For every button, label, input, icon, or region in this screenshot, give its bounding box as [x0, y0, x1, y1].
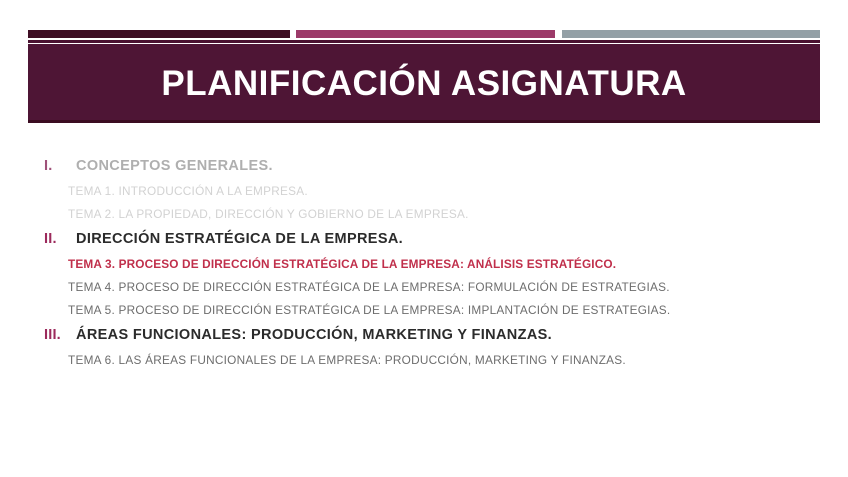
outline-topic: TEMA 1. INTRODUCCIÓN A LA EMPRESA.: [0, 184, 848, 198]
title-banner: PLANIFICACIÓN ASIGNATURA: [28, 44, 820, 122]
outline-topic-highlighted: TEMA 3. PROCESO DE DIRECCIÓN ESTRATÉGICA…: [0, 257, 848, 271]
outline-topic: TEMA 4. PROCESO DE DIRECCIÓN ESTRATÉGICA…: [0, 280, 848, 294]
outline-topic: TEMA 2. LA PROPIEDAD, DIRECCIÓN Y GOBIER…: [0, 207, 848, 221]
decorative-rule-thin: [28, 40, 820, 43]
slide-canvas: PLANIFICACIÓN ASIGNATURA I. CONCEPTOS GE…: [0, 0, 848, 477]
section-heading: ÁREAS FUNCIONALES: PRODUCCIÓN, MARKETING…: [76, 327, 552, 343]
outline-section: III. ÁREAS FUNCIONALES: PRODUCCIÓN, MARK…: [0, 327, 848, 343]
outline-topic: TEMA 5. PROCESO DE DIRECCIÓN ESTRATÉGICA…: [0, 303, 848, 317]
decorative-rule-gray: [562, 30, 820, 38]
outline-list: I. CONCEPTOS GENERALES. TEMA 1. INTRODUC…: [0, 148, 848, 367]
decorative-rule-magenta: [296, 30, 555, 38]
decorative-rule-row: [28, 30, 820, 38]
section-heading: DIRECCIÓN ESTRATÉGICA DE LA EMPRESA.: [76, 231, 403, 247]
outline-topic: TEMA 6. LAS ÁREAS FUNCIONALES DE LA EMPR…: [0, 353, 848, 367]
section-numeral: I.: [44, 158, 76, 174]
outline-section: II. DIRECCIÓN ESTRATÉGICA DE LA EMPRESA.: [0, 231, 848, 247]
slide-title: PLANIFICACIÓN ASIGNATURA: [161, 66, 686, 101]
section-numeral: II.: [44, 231, 76, 247]
section-heading: CONCEPTOS GENERALES.: [76, 158, 273, 174]
section-numeral: III.: [44, 327, 76, 343]
decorative-rule-dark: [28, 30, 290, 38]
outline-section: I. CONCEPTOS GENERALES.: [0, 158, 848, 174]
banner-underline: [28, 120, 820, 123]
